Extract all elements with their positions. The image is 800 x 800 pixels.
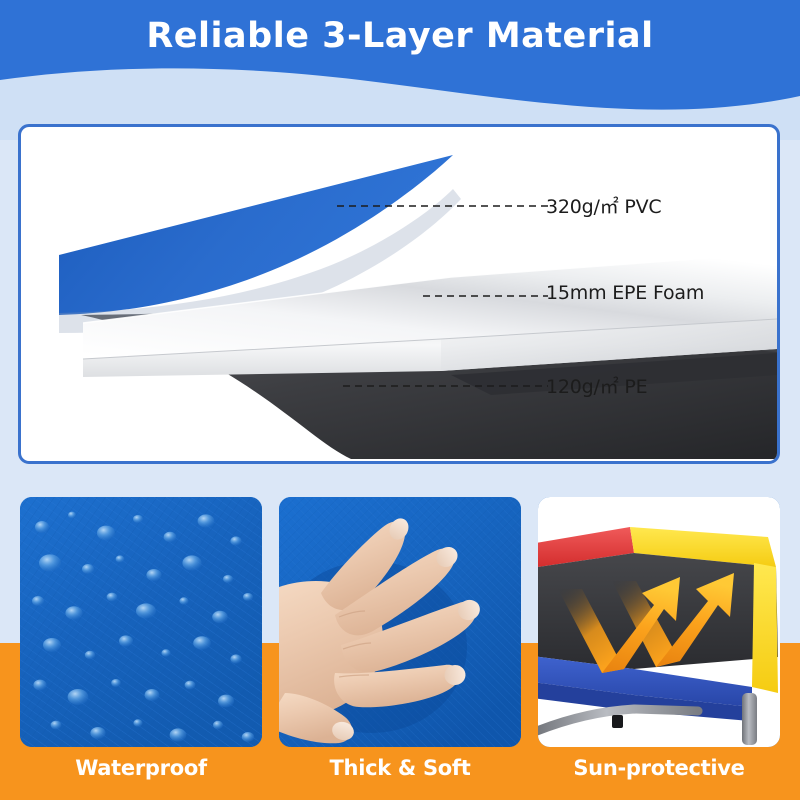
- feature-card-waterproof[interactable]: [20, 497, 262, 747]
- layer-label-pe: 120g/㎡ PE: [546, 372, 647, 399]
- water-droplets-on-blue-fabric-photo: [20, 497, 262, 747]
- hand-pressing-blue-padding-photo: [279, 497, 521, 747]
- feature-label-thick-soft: Thick & Soft: [279, 752, 521, 792]
- infographic-page: Reliable 3-Layer Material: [0, 0, 800, 800]
- feature-card-row: [20, 497, 780, 747]
- feature-label-sun-protective: Sun-protective: [538, 752, 780, 792]
- feature-label-row: Waterproof Thick & Soft Sun-protective: [20, 752, 780, 792]
- layer-label-epe: 15mm EPE Foam: [546, 282, 704, 304]
- layer-label-pvc: 320g/㎡ PVC: [546, 192, 662, 219]
- trampoline-pad-uv-reflection-photo: [538, 497, 780, 747]
- page-title: Reliable 3-Layer Material: [0, 14, 800, 58]
- feature-card-thick-soft[interactable]: [279, 497, 521, 747]
- feature-card-sun-protective[interactable]: [538, 497, 780, 747]
- header-band: Reliable 3-Layer Material: [0, 0, 800, 140]
- feature-label-waterproof: Waterproof: [20, 752, 262, 792]
